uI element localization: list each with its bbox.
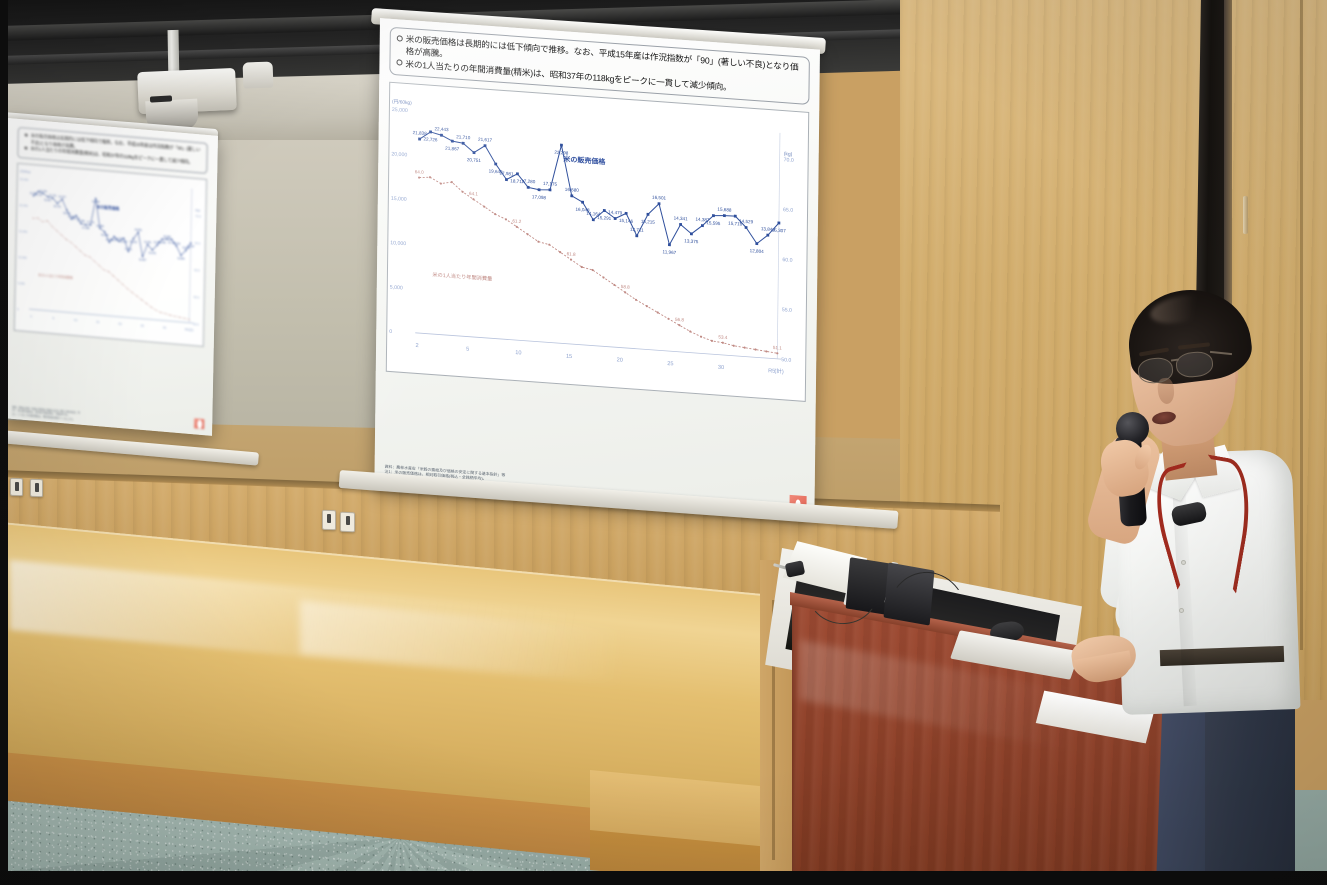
- svg-text:10: 10: [515, 350, 521, 356]
- svg-text:15,146: 15,146: [120, 240, 128, 244]
- svg-text:20: 20: [617, 358, 623, 364]
- door-handle[interactable]: [1243, 196, 1248, 234]
- svg-text:10,000: 10,000: [390, 241, 406, 248]
- svg-text:21,710: 21,710: [456, 135, 471, 141]
- chart-svg: 25,00020,00015,00010,0005,000070.065.060…: [387, 83, 808, 401]
- svg-text:15,307: 15,307: [187, 245, 195, 249]
- svg-text:14,529: 14,529: [739, 219, 754, 225]
- svg-text:22,726: 22,726: [423, 137, 438, 143]
- svg-text:17,098: 17,098: [532, 195, 547, 201]
- svg-text:60.0: 60.0: [782, 258, 792, 265]
- svg-text:20,751: 20,751: [467, 157, 482, 163]
- svg-text:12,804: 12,804: [750, 248, 765, 254]
- slide-left-copy: 米の販売価格は長期的には低下傾向で推移。なお、平成15年産は作況指数が「90」(…: [2, 118, 218, 436]
- svg-text:5: 5: [466, 347, 469, 353]
- svg-text:(円/60kg): (円/60kg): [20, 169, 31, 174]
- svg-text:15,291: 15,291: [597, 215, 612, 221]
- svg-text:0: 0: [389, 329, 392, 335]
- svg-text:14,529: 14,529: [173, 242, 181, 246]
- svg-text:22,443: 22,443: [434, 127, 449, 133]
- svg-text:22,443: 22,443: [39, 189, 47, 193]
- svg-text:56.8: 56.8: [675, 317, 684, 323]
- lecture-hall-photo: 米の販売価格は長期的には低下傾向で推移。なお、平成15年産は作況指数が「90」(…: [0, 0, 1327, 885]
- svg-text:2: 2: [30, 314, 32, 318]
- svg-text:58.8: 58.8: [621, 284, 630, 290]
- svg-text:(円/60kg): (円/60kg): [392, 99, 412, 106]
- svg-text:12,711: 12,711: [630, 227, 644, 233]
- svg-text:21,867: 21,867: [44, 198, 52, 202]
- svg-text:17,175: 17,175: [543, 181, 558, 187]
- chart-canvas-main: 25,00020,00015,00010,0005,000070.065.060…: [387, 83, 808, 401]
- projection-screen-left: 米の販売価格は長期的には低下傾向で推移。なお、平成15年産は作況指数が「90」(…: [2, 118, 218, 436]
- svg-text:12,711: 12,711: [125, 247, 133, 251]
- svg-text:64.0: 64.0: [415, 170, 424, 176]
- svg-text:15,146: 15,146: [619, 218, 634, 224]
- svg-text:16,680: 16,680: [565, 187, 580, 193]
- svg-text:53.4: 53.4: [718, 335, 727, 341]
- svg-text:米の販売価格: 米の販売価格: [97, 204, 120, 211]
- svg-text:51.1: 51.1: [773, 345, 782, 351]
- svg-text:50.0: 50.0: [781, 358, 791, 365]
- svg-text:16,680: 16,680: [96, 224, 104, 228]
- svg-text:15,000: 15,000: [19, 229, 28, 234]
- svg-text:60.0: 60.0: [194, 268, 200, 272]
- svg-text:14,479: 14,479: [608, 210, 623, 216]
- svg-text:22,298: 22,298: [554, 150, 569, 156]
- svg-text:22,726: 22,726: [35, 193, 43, 197]
- chart-canvas: 25,00020,00015,00010,0005,000070.065.060…: [15, 164, 206, 346]
- shirt-button-3: [1179, 608, 1184, 613]
- image-bottom-border: [0, 871, 1327, 885]
- svg-text:70.0: 70.0: [784, 158, 794, 165]
- svg-text:16,048: 16,048: [101, 233, 109, 237]
- svg-text:20: 20: [118, 322, 122, 326]
- svg-text:15,215: 15,215: [130, 240, 138, 244]
- svg-text:15,688: 15,688: [717, 207, 732, 213]
- svg-text:65.0: 65.0: [195, 241, 201, 245]
- svg-text:米の1人当たり年間消費量: 米の1人当たり年間消費量: [38, 272, 73, 280]
- svg-text:14,341: 14,341: [674, 216, 689, 222]
- svg-text:16,501: 16,501: [652, 195, 667, 201]
- wall-outlet-3[interactable]: [10, 478, 23, 496]
- svg-text:(kg): (kg): [784, 152, 793, 159]
- svg-text:15: 15: [566, 354, 572, 360]
- ceiling-fixture-knob: [243, 61, 274, 88]
- svg-text:50.0: 50.0: [193, 322, 199, 326]
- svg-text:65.0: 65.0: [783, 208, 793, 215]
- chart-svg: 25,00020,00015,00010,0005,000070.065.060…: [15, 164, 206, 346]
- wall-outlet-2[interactable]: [340, 512, 355, 533]
- image-left-border: [0, 0, 8, 885]
- svg-text:25,000: 25,000: [392, 107, 408, 114]
- svg-text:12,804: 12,804: [177, 257, 185, 261]
- svg-text:5,000: 5,000: [390, 285, 403, 292]
- bullet-circle-icon: [397, 35, 403, 41]
- svg-text:55.0: 55.0: [194, 295, 200, 299]
- svg-text:15,688: 15,688: [163, 235, 171, 239]
- svg-text:61.8: 61.8: [567, 252, 576, 258]
- svg-text:15,595: 15,595: [158, 241, 166, 245]
- svg-text:17,981: 17,981: [499, 171, 514, 177]
- svg-text:61.2: 61.2: [512, 219, 521, 225]
- bullet-circle-icon: [25, 133, 28, 136]
- svg-text:(kg): (kg): [195, 208, 200, 212]
- svg-text:15,307: 15,307: [772, 228, 787, 234]
- svg-text:25: 25: [141, 323, 145, 327]
- svg-text:17,098: 17,098: [82, 226, 90, 230]
- svg-text:11,967: 11,967: [662, 250, 676, 256]
- svg-text:70.0: 70.0: [195, 214, 201, 218]
- svg-text:21,867: 21,867: [445, 146, 460, 152]
- svg-text:25,000: 25,000: [20, 177, 29, 182]
- chart-frame: 25,00020,00015,00010,0005,000070.065.060…: [14, 163, 207, 347]
- svg-text:米の販売価格: 米の販売価格: [562, 155, 606, 167]
- svg-text:11,967: 11,967: [139, 258, 147, 262]
- svg-text:(計): (計): [774, 367, 784, 376]
- svg-text:30: 30: [718, 365, 724, 371]
- svg-text:13,375: 13,375: [684, 239, 699, 245]
- svg-text:10: 10: [74, 318, 78, 322]
- wall-outlet-4[interactable]: [30, 479, 43, 497]
- svg-text:17,280: 17,280: [521, 179, 536, 185]
- svg-text:22,298: 22,298: [92, 200, 100, 204]
- bullet-circle-icon: [24, 147, 27, 150]
- svg-text:21,838: 21,838: [413, 130, 428, 136]
- svg-text:15,595: 15,595: [706, 221, 721, 227]
- svg-text:21,710: 21,710: [49, 194, 57, 198]
- svg-text:13,375: 13,375: [149, 251, 157, 255]
- svg-text:21,617: 21,617: [478, 137, 493, 143]
- bullet-circle-icon: [396, 60, 402, 66]
- svg-text:25: 25: [667, 361, 673, 367]
- svg-text:17,175: 17,175: [87, 221, 95, 225]
- wall-outlet-1[interactable]: [322, 510, 336, 530]
- svg-text:14,341: 14,341: [144, 241, 152, 245]
- chart-frame-main: 25,00020,00015,00010,0005,000070.065.060…: [386, 82, 809, 402]
- svg-text:20,000: 20,000: [391, 152, 407, 159]
- svg-text:20,751: 20,751: [54, 205, 62, 209]
- projection-screen-main: 米の販売価格は長期的には低下傾向で推移。なお、平成15年産は作況指数が「90」(…: [374, 18, 820, 520]
- svg-text:17,280: 17,280: [77, 220, 85, 224]
- svg-text:30: 30: [163, 325, 167, 329]
- svg-text:0: 0: [17, 307, 19, 311]
- svg-text:(計): (計): [189, 327, 194, 332]
- svg-text:2: 2: [415, 343, 418, 349]
- svg-text:10,000: 10,000: [18, 255, 27, 260]
- camera-vent-slot: [150, 95, 172, 102]
- svg-text:15,215: 15,215: [641, 219, 656, 225]
- wall-panel-seam: [1300, 0, 1303, 650]
- svg-text:米の1人当たり年間消費量: 米の1人当たり年間消費量: [432, 271, 492, 283]
- ministry-logo-icon: [194, 418, 204, 429]
- svg-text:21,617: 21,617: [59, 195, 67, 199]
- svg-text:64.1: 64.1: [469, 191, 478, 197]
- svg-text:5: 5: [52, 316, 54, 320]
- svg-text:55.0: 55.0: [782, 308, 792, 315]
- svg-text:15: 15: [96, 320, 100, 324]
- svg-text:5,000: 5,000: [18, 281, 26, 286]
- svg-text:20,000: 20,000: [19, 203, 28, 208]
- svg-text:15,000: 15,000: [391, 196, 407, 203]
- svg-text:16,501: 16,501: [135, 228, 143, 232]
- slide-main: 米の販売価格は長期的には低下傾向で推移。なお、平成15年産は作況指数が「90」(…: [374, 18, 820, 520]
